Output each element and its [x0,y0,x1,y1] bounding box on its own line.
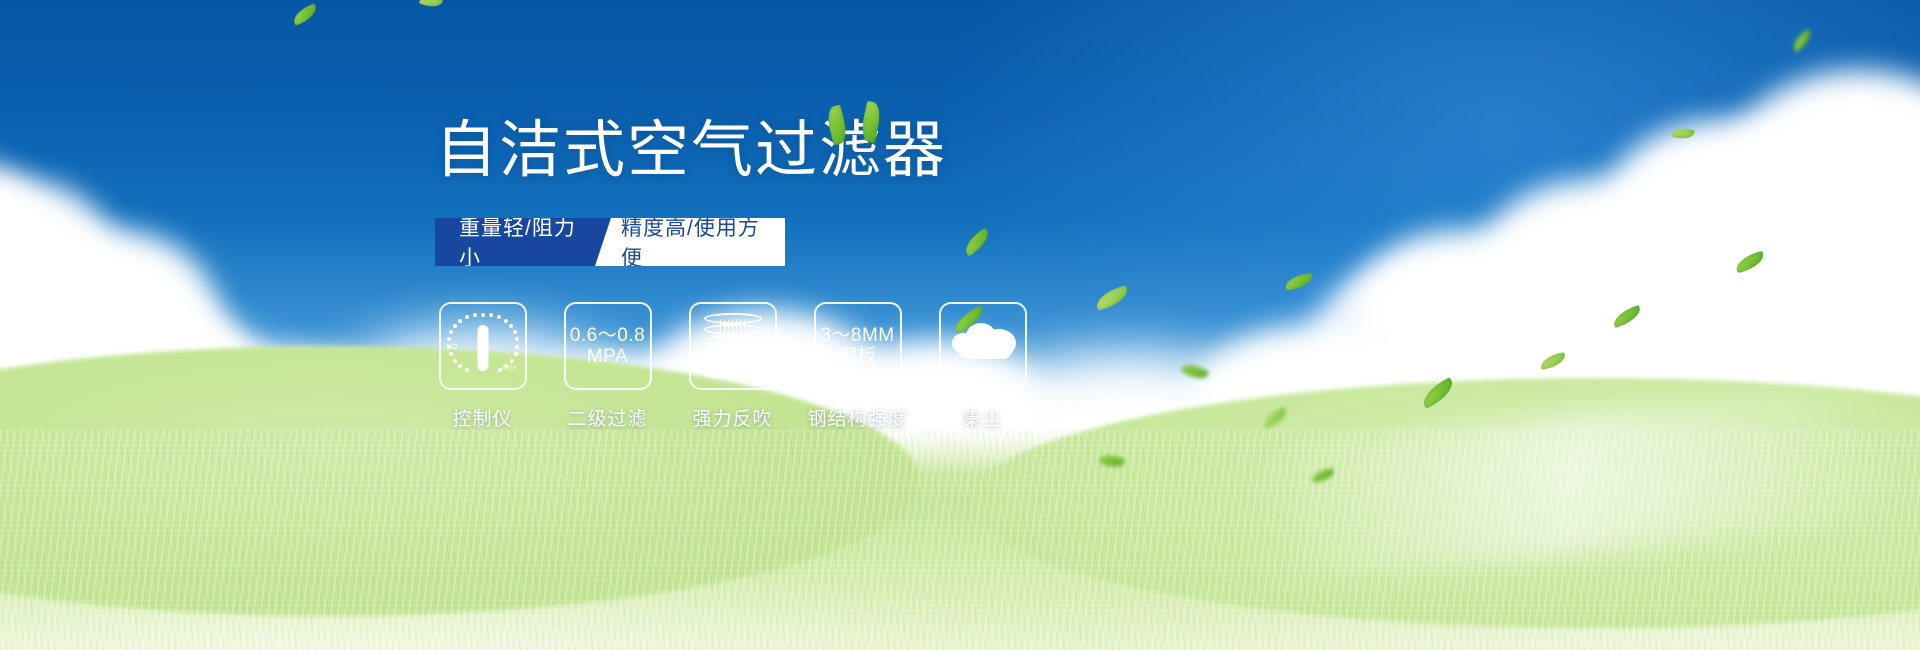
feature-label: 二级过滤 [567,404,647,431]
steel-thickness: 3〜8MM [820,325,894,346]
leaf-icon [859,101,883,143]
pressure-value: 0.6〜0.8 [570,325,645,346]
feature-icon-row: NO OFF 控制仪 0.6〜0.8 MPA 二级过滤 [435,302,1155,431]
steel-material: 钢板 [820,346,894,367]
leaf-icon [1539,352,1567,370]
feature-label: 钢结构强度 [808,404,908,431]
leaf-icon [1284,273,1314,291]
feature-icon-box: 3〜8MM 钢板 [814,302,902,390]
leaf-icon [1789,29,1814,53]
feature-item-steel-strength: 3〜8MM 钢板 钢结构强度 [810,302,905,431]
tag-precision-easyuse: 精度高/使用方便 [595,218,785,266]
filter-stack-icon [704,313,762,379]
pressure-unit: MPA [570,346,645,367]
air-cloud-icon: Air [946,315,1020,377]
control-dial-icon: NO OFF [448,311,518,381]
feature-icon-box [689,302,777,390]
air-label: Air [974,363,990,377]
hero-banner: 自洁式空气过滤器 重量轻/阻力小 精度高/使用方便 [0,0,1920,650]
feature-item-strong-backblow: 强力反吹 [685,302,780,431]
banner-content: 自洁式空气过滤器 重量轻/阻力小 精度高/使用方便 [435,120,1155,431]
leaf-icon [825,105,850,146]
dial-off-label: OFF [503,365,518,372]
feature-item-two-stage-filtration: 0.6〜0.8 MPA 二级过滤 [560,302,655,431]
dial-on-label: NO [447,344,458,351]
leaf-icon [1180,359,1209,383]
leaf-icon [290,3,319,25]
feature-icon-box: 0.6〜0.8 MPA [564,302,652,390]
pressure-text-icon: 0.6〜0.8 MPA [570,325,645,368]
leaf-icon [419,0,443,10]
tag-lightweight-lowresistance: 重量轻/阻力小 [435,218,611,266]
steel-plate-text-icon: 3〜8MM 钢板 [820,325,894,368]
leaf-icon [1671,126,1695,141]
dial-pointer [477,325,488,371]
leaf-icon [1734,251,1767,274]
feature-label: 集尘 [962,404,1002,431]
page-title: 自洁式空气过滤器 [435,120,1155,182]
feature-label: 控制仪 [452,404,512,431]
grass-field [0,430,1920,650]
feature-icon-box: NO OFF [439,302,527,390]
title-leaf-pair [827,102,897,150]
feature-icon-box: Air [939,302,1027,390]
leaf-icon [1611,305,1644,328]
feature-label: 强力反吹 [692,404,772,431]
feature-item-dust-collection: Air 集尘 [935,302,1030,431]
subtitle-tag-row: 重量轻/阻力小 精度高/使用方便 [435,218,763,266]
feature-item-control-instrument: NO OFF 控制仪 [435,302,530,431]
